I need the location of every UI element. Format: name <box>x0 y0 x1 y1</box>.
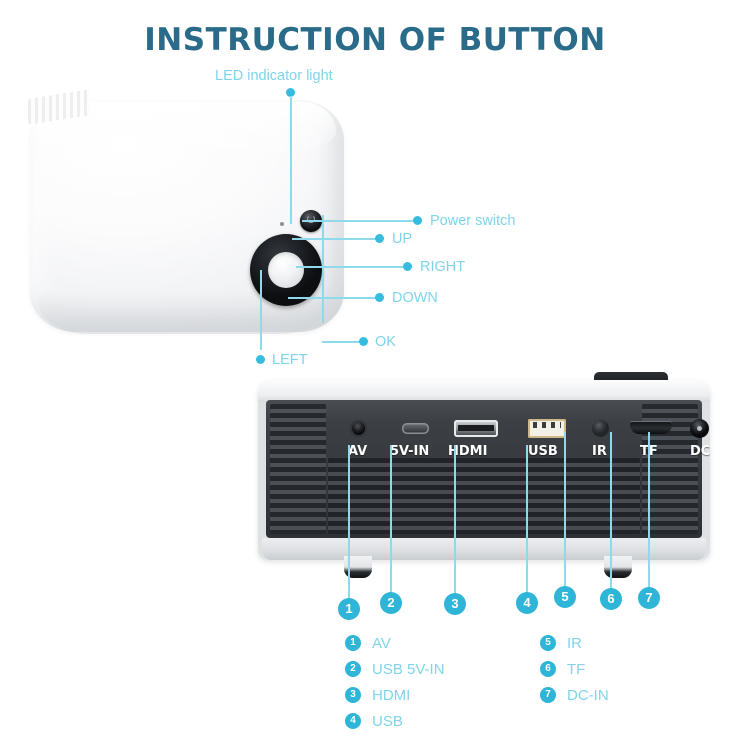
hdmi-port-icon[interactable] <box>454 420 498 437</box>
leader-line-marker-7 <box>648 432 650 588</box>
leader-line-left-vertical <box>260 270 262 350</box>
legend-label-dc-in: DC-IN <box>567 687 609 704</box>
marker-badge-5[interactable]: 5 <box>554 586 576 608</box>
leader-line-up <box>292 238 380 240</box>
dc-jack-icon[interactable] <box>690 419 709 438</box>
callout-label-right: RIGHT <box>420 259 465 275</box>
leader-line-marker-4 <box>526 445 528 593</box>
callout-dot-down <box>375 293 384 302</box>
legend-label-av: AV <box>372 635 391 652</box>
speaker-grille-left-icon <box>270 404 326 534</box>
callout-dot-left <box>256 355 265 364</box>
projector-top-cap <box>258 380 710 402</box>
leader-line-power-switch <box>302 220 418 222</box>
leader-line-marker-6 <box>610 432 612 589</box>
callout-label-up: UP <box>392 231 412 247</box>
legend-item: 2 USB 5V-IN <box>345 656 445 682</box>
projector-rear-view-image: AV 5V-IN HDMI USB IR TF DC <box>258 372 710 577</box>
port-label-ir: IR <box>592 444 607 459</box>
callout-dot-up <box>375 234 384 243</box>
leader-line-marker-5 <box>564 432 566 587</box>
instruction-diagram-page: INSTRUCTION OF BUTTON LED indicator ligh… <box>0 0 750 750</box>
callout-label-ok: OK <box>375 334 396 350</box>
leader-line-ok <box>322 341 364 343</box>
micro-usb-icon[interactable] <box>402 423 429 434</box>
legend-item: 4 USB <box>345 708 445 734</box>
leader-line-ok-vertical <box>322 215 324 323</box>
port-label-5v-in: 5V-IN <box>390 444 429 459</box>
page-title: INSTRUCTION OF BUTTON <box>0 22 750 58</box>
legend-badge-7: 7 <box>540 687 556 703</box>
callout-label-left: LEFT <box>272 352 307 368</box>
callout-dot-power-switch <box>413 216 422 225</box>
legend-item: 6 TF <box>540 656 609 682</box>
port-label-av: AV <box>348 444 367 459</box>
port-label-dc: DC <box>690 444 710 459</box>
callout-label-led-indicator: LED indicator light <box>215 68 333 84</box>
legend-label-hdmi: HDMI <box>372 687 410 704</box>
usb-port-icon[interactable] <box>528 419 566 438</box>
legend-label-ir: IR <box>567 635 582 652</box>
leader-line-marker-1 <box>348 445 350 599</box>
leader-line-led-indicator <box>290 96 292 224</box>
legend-right-column: 5 IR 6 TF 7 DC-IN <box>540 630 609 708</box>
legend-badge-5: 5 <box>540 635 556 651</box>
marker-badge-7[interactable]: 7 <box>638 587 660 609</box>
tf-card-slot-icon[interactable] <box>630 421 672 434</box>
port-label-usb: USB <box>528 444 558 459</box>
led-indicator-icon <box>280 222 284 226</box>
projector-base <box>262 538 706 560</box>
marker-badge-3[interactable]: 3 <box>444 593 466 615</box>
projector-foot-right <box>604 556 632 578</box>
legend-label-tf: TF <box>567 661 585 678</box>
callout-label-down: DOWN <box>392 290 438 306</box>
ir-sensor-icon[interactable] <box>592 420 609 437</box>
legend-badge-3: 3 <box>345 687 361 703</box>
legend-label-usb: USB <box>372 713 403 730</box>
legend-item: 3 HDMI <box>345 682 445 708</box>
legend-badge-6: 6 <box>540 661 556 677</box>
marker-badge-4[interactable]: 4 <box>516 592 538 614</box>
marker-badge-6[interactable]: 6 <box>600 588 622 610</box>
legend-item: 7 DC-IN <box>540 682 609 708</box>
marker-badge-1[interactable]: 1 <box>338 598 360 620</box>
legend-label-usb-5v-in: USB 5V-IN <box>372 661 445 678</box>
callout-dot-right <box>403 262 412 271</box>
leader-line-down <box>288 297 380 299</box>
legend-badge-2: 2 <box>345 661 361 677</box>
vent-grille-center-icon <box>328 458 640 534</box>
callout-label-power-switch: Power switch <box>430 213 515 229</box>
rear-port-panel: AV 5V-IN HDMI USB IR TF DC <box>266 400 702 538</box>
leader-line-right <box>296 266 408 268</box>
legend-item: 1 AV <box>345 630 445 656</box>
legend-badge-4: 4 <box>345 713 361 729</box>
av-jack-icon[interactable] <box>350 420 367 437</box>
marker-badge-2[interactable]: 2 <box>380 592 402 614</box>
legend-item: 5 IR <box>540 630 609 656</box>
leader-line-marker-3 <box>454 445 456 594</box>
projector-top-view-image <box>22 92 352 340</box>
leader-line-marker-2 <box>390 445 392 593</box>
callout-dot-ok <box>359 337 368 346</box>
legend-badge-1: 1 <box>345 635 361 651</box>
legend-left-column: 1 AV 2 USB 5V-IN 3 HDMI 4 USB <box>345 630 445 734</box>
